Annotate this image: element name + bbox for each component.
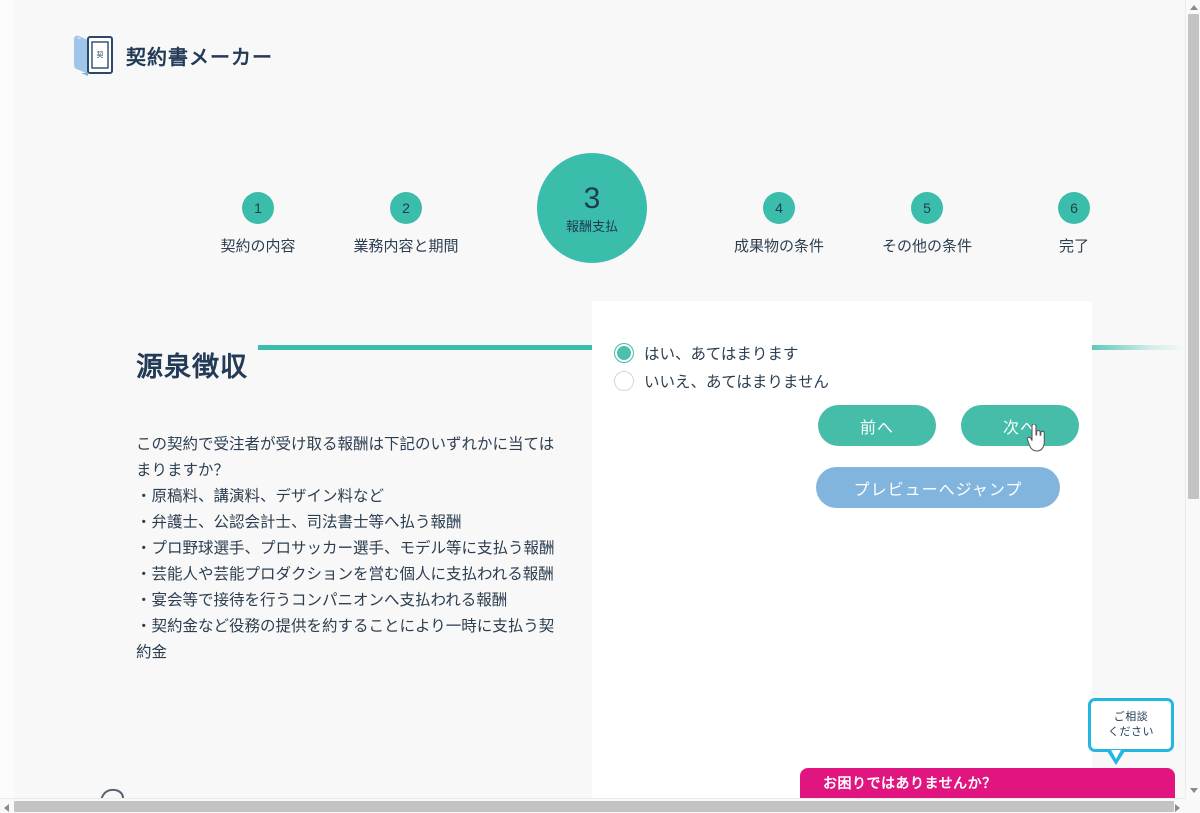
step-item-4[interactable]: 4 成果物の条件 xyxy=(714,192,844,256)
chat-support-bar[interactable]: お困りではありませんか？ xyxy=(800,768,1175,798)
step-number-5: 5 xyxy=(923,200,931,216)
step-label-2: 業務内容と期間 xyxy=(341,235,471,256)
step-label-6: 完了 xyxy=(1034,235,1114,256)
step-label-1: 契約の内容 xyxy=(218,235,298,256)
list-item: ・弁護士、公認会計士、司法書士等へ払う報酬 xyxy=(136,510,556,536)
step-label-4: 成果物の条件 xyxy=(714,235,844,256)
radio-selected-icon[interactable] xyxy=(614,343,634,363)
step-circle-2: 2 xyxy=(390,192,422,224)
scrollbar-corner xyxy=(1185,798,1200,813)
chat-support-bar-label: お困りではありませんか？ xyxy=(823,773,997,793)
scroll-right-arrow-icon[interactable] xyxy=(1175,804,1180,812)
withholding-radio-group: はい、あてはまります いいえ、あてはまりません xyxy=(614,339,829,395)
step-circle-3: 3 報酬支払 xyxy=(537,153,647,263)
step-number-2: 2 xyxy=(402,200,410,216)
chat-bubble-line-2: ください xyxy=(1108,725,1154,740)
next-button[interactable]: 次へ xyxy=(961,405,1079,446)
scroll-up-arrow-icon[interactable] xyxy=(1190,5,1198,10)
vertical-scrollbar-thumb[interactable] xyxy=(1188,14,1199,499)
step-item-5[interactable]: 5 その他の条件 xyxy=(862,192,992,256)
contract-book-icon: 契 xyxy=(68,30,114,80)
radio-option-no[interactable]: いいえ、あてはまりません xyxy=(614,367,829,395)
list-item: ・宴会等で接待を行うコンパニオンへ支払われる報酬 xyxy=(136,588,556,614)
page-title: 源泉徴収 xyxy=(136,345,556,384)
horizontal-scrollbar-thumb[interactable] xyxy=(14,801,1174,812)
chat-bubble-line-1: ご相談 xyxy=(1114,710,1149,725)
step-circle-1: 1 xyxy=(242,192,274,224)
step-circle-4: 4 xyxy=(763,192,795,224)
navigation-button-row: 前へ 次へ xyxy=(818,405,1079,446)
radio-label-yes: はい、あてはまります xyxy=(644,342,798,364)
scroll-left-arrow-icon[interactable] xyxy=(4,804,9,812)
prev-button[interactable]: 前へ xyxy=(818,405,936,446)
progress-stepper: 1 契約の内容 2 業務内容と期間 3 報酬支払 報酬支払 4 成果物の条件 xyxy=(0,140,1185,280)
radio-option-yes[interactable]: はい、あてはまります xyxy=(614,339,829,367)
app-title: 契約書メーカー xyxy=(126,41,273,70)
list-item: ・原稿料、講演料、デザイン料など xyxy=(136,484,556,510)
answer-panel: はい、あてはまります いいえ、あてはまりません 前へ 次へ プレビューへジャンプ xyxy=(592,301,1092,798)
list-item: ・プロ野球選手、プロサッカー選手、モデル等に支払う報酬 xyxy=(136,536,556,562)
step-number-6: 6 xyxy=(1070,200,1078,216)
scroll-down-arrow-icon[interactable] xyxy=(1190,788,1198,793)
step-sublabel-3: 報酬支払 xyxy=(566,220,618,233)
step-item-1[interactable]: 1 契約の内容 xyxy=(218,192,298,256)
question-description-column: 源泉徴収 この契約で受注者が受け取る報酬は下記のいずれかに当てはまりますか？ ・… xyxy=(136,345,556,666)
page-canvas: 契 契約書メーカー 1 契約の内容 2 業務内容と期間 3 報酬支払 xyxy=(0,0,1185,798)
site-header: 契 契約書メーカー xyxy=(68,30,273,80)
step-item-2[interactable]: 2 業務内容と期間 xyxy=(341,192,471,256)
vertical-scrollbar[interactable] xyxy=(1185,0,1200,798)
step-label-5: その他の条件 xyxy=(862,235,992,256)
step-circle-6: 6 xyxy=(1058,192,1090,224)
question-intro-text: この契約で受注者が受け取る報酬は下記のいずれかに当てはまりますか？ xyxy=(136,432,556,484)
step-number-3: 3 xyxy=(584,184,601,214)
floating-helper-icon[interactable] xyxy=(98,782,128,798)
chat-prompt-bubble[interactable]: ご相談 ください xyxy=(1088,698,1174,752)
radio-label-no: いいえ、あてはまりません xyxy=(644,370,829,392)
step-number-1: 1 xyxy=(254,200,262,216)
svg-text:契: 契 xyxy=(97,50,104,59)
step-number-4: 4 xyxy=(775,200,783,216)
chat-bubble-tail xyxy=(1107,751,1125,765)
jump-to-preview-button[interactable]: プレビューへジャンプ xyxy=(816,467,1060,508)
horizontal-scrollbar[interactable] xyxy=(0,798,1200,813)
list-item: ・芸能人や芸能プロダクションを営む個人に支払われる報酬 xyxy=(136,562,556,588)
step-item-3-active[interactable]: 3 報酬支払 報酬支払 xyxy=(537,153,647,263)
step-item-6[interactable]: 6 完了 xyxy=(1034,192,1114,256)
radio-unselected-icon[interactable] xyxy=(614,371,634,391)
list-item: ・契約金など役務の提供を約することにより一時に支払う契約金 xyxy=(136,614,556,666)
condition-bullet-list: ・原稿料、講演料、デザイン料など ・弁護士、公認会計士、司法書士等へ払う報酬 ・… xyxy=(136,484,556,666)
step-circle-5: 5 xyxy=(911,192,943,224)
